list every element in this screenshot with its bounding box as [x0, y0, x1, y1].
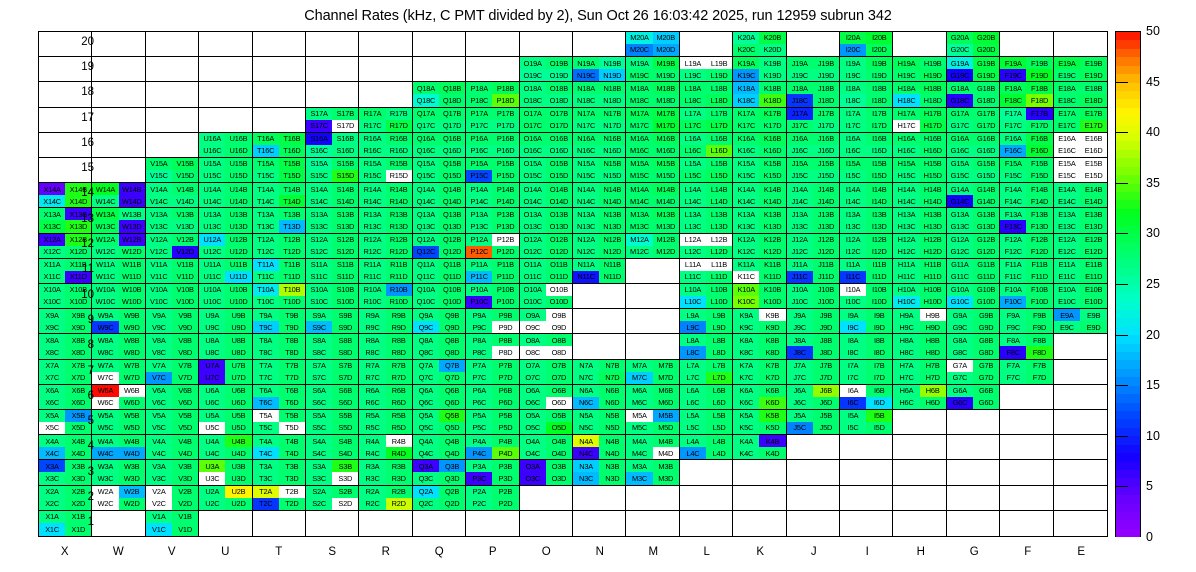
channel-P10D: P10D	[492, 296, 518, 308]
channel-P8D: P8D	[492, 346, 518, 358]
heatmap-cell-T1	[253, 511, 306, 536]
channel-Q2B: Q2B	[439, 486, 465, 498]
heatmap-cell-E16: E16AE16BE16CE16D	[1054, 133, 1107, 158]
x-axis-tick-T: T	[259, 546, 299, 558]
channel-E18A: E18A	[1054, 82, 1081, 94]
channel-K20B: K20B	[759, 32, 785, 44]
channel-N19C: N19C	[573, 69, 599, 81]
channel-K16B: K16B	[759, 133, 785, 145]
channel-V8A: V8A	[146, 334, 172, 346]
heatmap-cell-F6	[1000, 385, 1053, 410]
channel-S13A: S13A	[306, 208, 332, 220]
channel-N16A: N16A	[573, 133, 599, 145]
channel-L4A: L4A	[680, 435, 706, 447]
channel-G17C: G17C	[947, 120, 973, 132]
channel-S13D: S13D	[332, 220, 358, 232]
channel-T11B: T11B	[279, 259, 305, 271]
heatmap-cell-L19: L19AL19BL19CL19D	[680, 57, 733, 82]
heatmap-cell-G17: G17AG17BG17CG17D	[947, 108, 1000, 133]
channel-I8B: I8B	[866, 334, 892, 346]
channel-V11D: V11D	[172, 271, 198, 283]
channel-F8A: F8A	[1000, 334, 1026, 346]
channel-E9C: E9C	[1054, 321, 1081, 333]
channel-F16B: F16B	[1026, 133, 1052, 145]
heatmap-cell-H2	[893, 486, 946, 511]
channel-H6B: H6B	[920, 385, 946, 397]
channel-V4A: V4A	[146, 435, 172, 447]
heatmap-cell-T14: T14AT14BT14CT14D	[253, 183, 306, 208]
channel-M16C: M16C	[626, 145, 652, 157]
channel-Q8C: Q8C	[413, 346, 439, 358]
channel-H13A: H13A	[893, 208, 919, 220]
channel-S2B: S2B	[332, 486, 358, 498]
channel-P2D: P2D	[492, 498, 518, 510]
channel-Q14C: Q14C	[413, 195, 439, 207]
channel-O6C: O6C	[520, 397, 546, 409]
heatmap-cell-W16	[92, 133, 145, 158]
heatmap-cell-P12: P12AP12BP12CP12D	[466, 234, 519, 259]
channel-S10C: S10C	[306, 296, 332, 308]
channel-L11D: L11D	[706, 271, 732, 283]
channel-K9D: K9D	[759, 321, 785, 333]
channel-X8C: X8C	[39, 346, 65, 358]
channel-R8B: R8B	[386, 334, 412, 346]
channel-R3B: R3B	[386, 460, 412, 472]
heatmap-cell-E11: E11AE11BE11CE11D	[1054, 259, 1107, 284]
heatmap-cell-H17: H17AH17BH17CH17D	[893, 108, 946, 133]
heatmap-cell-S7: S7AS7BS7CS7D	[306, 360, 359, 385]
heatmap-cell-L20	[680, 32, 733, 57]
channel-O9D: O9D	[546, 321, 572, 333]
channel-U10A: U10A	[199, 284, 225, 296]
channel-N13A: N13A	[573, 208, 599, 220]
channel-J5D: J5D	[813, 422, 839, 434]
channel-F11C: F11C	[1000, 271, 1026, 283]
channel-G19A: G19A	[947, 57, 973, 69]
heatmap-cell-V18	[146, 82, 199, 107]
channel-U5D: U5D	[225, 422, 251, 434]
channel-I8D: I8D	[866, 346, 892, 358]
heatmap-cell-K17: K17AK17BK17CK17D	[733, 108, 786, 133]
heatmap-cell-J6: J6AJ6BJ6CJ6D	[787, 385, 840, 410]
channel-G11A: G11A	[947, 259, 973, 271]
heatmap-cell-R16: R16AR16BR16CR16D	[359, 133, 412, 158]
channel-G19C: G19C	[947, 69, 973, 81]
colorbar-label-45: 45	[1146, 75, 1160, 89]
channel-V5D: V5D	[172, 422, 198, 434]
heatmap-cell-E10: E10AE10BE10CE10D	[1054, 284, 1107, 309]
channel-S12A: S12A	[306, 234, 332, 246]
channel-L13B: L13B	[706, 208, 732, 220]
heatmap-cell-F1	[1000, 511, 1053, 536]
y-axis-tick-19: 19	[68, 61, 94, 73]
channel-W9D: W9D	[119, 321, 145, 333]
channel-I15C: I15C	[840, 170, 866, 182]
channel-N7A: N7A	[573, 360, 599, 372]
channel-F8C: F8C	[1000, 346, 1026, 358]
channel-H6D: H6D	[920, 397, 946, 409]
heatmap-cell-H5	[893, 410, 946, 435]
heatmap-cell-O9: O9AO9BO9CO9D	[520, 309, 573, 334]
channel-O16D: O16D	[546, 145, 572, 157]
heatmap-cell-F18: F18AF18BF18CF18D	[1000, 82, 1053, 107]
channel-I17C: I17C	[840, 120, 866, 132]
channel-P6C: P6C	[466, 397, 492, 409]
heatmap-cell-J12: J12AJ12BJ12CJ12D	[787, 234, 840, 259]
heatmap-cell-F8: F8AF8BF8CF8D	[1000, 334, 1053, 359]
heatmap-cell-K9: K9AK9BK9CK9D	[733, 309, 786, 334]
heatmap-cell-P7: P7AP7BP7CP7D	[466, 360, 519, 385]
channel-W10A: W10A	[92, 284, 118, 296]
channel-P17A: P17A	[466, 108, 492, 120]
channel-V9A: V9A	[146, 309, 172, 321]
channel-R11D: R11D	[386, 271, 412, 283]
heatmap-cell-R15: R15AR15BR15CR15D	[359, 158, 412, 183]
channel-K13D: K13D	[759, 220, 785, 232]
channel-K14A: K14A	[733, 183, 759, 195]
colorbar-segment	[1116, 520, 1140, 528]
heatmap-cell-U6: U6AU6BU6CU6D	[199, 385, 252, 410]
channel-S7B: S7B	[332, 360, 358, 372]
x-axis-tick-S: S	[312, 546, 352, 558]
channel-Q15D: Q15D	[439, 170, 465, 182]
channel-F16C: F16C	[1000, 145, 1026, 157]
x-axis-tick-H: H	[901, 546, 941, 558]
channel-S5A: S5A	[306, 410, 332, 422]
channel-K4D: K4D	[759, 447, 785, 459]
channel-E17A: E17A	[1054, 108, 1081, 120]
channel-U12D: U12D	[225, 246, 251, 258]
channel-Q7B: Q7B	[439, 360, 465, 372]
heatmap-cell-U17	[199, 108, 252, 133]
channel-X7A: X7A	[39, 360, 65, 372]
channel-G10D: G10D	[973, 296, 999, 308]
channel-G18A: G18A	[947, 82, 973, 94]
channel-F7D: F7D	[1026, 372, 1052, 384]
channel-N3D: N3D	[599, 472, 625, 484]
channel-K14C: K14C	[733, 195, 759, 207]
channel-T7D: T7D	[279, 372, 305, 384]
heatmap-cell-O6: O6AO6BO6CO6D	[520, 385, 573, 410]
channel-G16C: G16C	[947, 145, 973, 157]
colorbar-segment	[1116, 167, 1140, 175]
channel-S2C: S2C	[306, 498, 332, 510]
heatmap-cell-E17: E17AE17BE17CE17D	[1054, 108, 1107, 133]
y-axis-tick-17: 17	[68, 112, 94, 124]
x-axis-tick-W: W	[98, 546, 138, 558]
channel-G20D: G20D	[973, 44, 999, 56]
channel-J12A: J12A	[787, 234, 813, 246]
channel-I14A: I14A	[840, 183, 866, 195]
channel-Q2C: Q2C	[413, 498, 439, 510]
channel-O7D: O7D	[546, 372, 572, 384]
channel-I10C: I10C	[840, 296, 866, 308]
heatmap-cell-V3: V3AV3BV3CV3D	[146, 460, 199, 485]
channel-G11C: G11C	[947, 271, 973, 283]
channel-E13B: E13B	[1080, 208, 1107, 220]
channel-P16D: P16D	[492, 145, 518, 157]
channel-E12D: E12D	[1080, 246, 1107, 258]
channel-G13A: G13A	[947, 208, 973, 220]
heatmap-cell-K20: K20AK20BK20CK20D	[733, 32, 786, 57]
y-axis-tick-4: 4	[68, 440, 94, 452]
heatmap-cell-W7: W7AW7BW7CW7D	[92, 360, 145, 385]
channel-U13A: U13A	[199, 208, 225, 220]
channel-X8A: X8A	[39, 334, 65, 346]
channel-S14C: S14C	[306, 195, 332, 207]
heatmap-cell-S4: S4AS4BS4CS4D	[306, 435, 359, 460]
channel-S13C: S13C	[306, 220, 332, 232]
channel-Q17C: Q17C	[413, 120, 439, 132]
heatmap-cell-V4: V4AV4BV4CV4D	[146, 435, 199, 460]
heatmap-cell-N19: N19AN19BN19CN19D	[573, 57, 626, 82]
channel-H10A: H10A	[893, 284, 919, 296]
channel-S8A: S8A	[306, 334, 332, 346]
channel-M20A: M20A	[626, 32, 652, 44]
heatmap-cell-U5: U5AU5BU5CU5D	[199, 410, 252, 435]
channel-L8C: L8C	[680, 346, 706, 358]
colorbar-tick	[1115, 82, 1128, 83]
channel-F7B: F7B	[1026, 360, 1052, 372]
channel-O4D: O4D	[546, 447, 572, 459]
channel-R9A: R9A	[359, 309, 385, 321]
channel-J8C: J8C	[787, 346, 813, 358]
heatmap-cell-W18	[92, 82, 145, 107]
heatmap-cell-F16: F16AF16BF16CF16D	[1000, 133, 1053, 158]
channel-I12B: I12B	[866, 234, 892, 246]
channel-X7C: X7C	[39, 372, 65, 384]
channel-I9D: I9D	[866, 321, 892, 333]
channel-U8D: U8D	[225, 346, 251, 358]
heatmap-cell-O18: O18AO18BO18CO18D	[520, 82, 573, 107]
heatmap-cell-S18	[306, 82, 359, 107]
channel-K11B: K11B	[759, 259, 785, 271]
channel-R8A: R8A	[359, 334, 385, 346]
x-axis-tick-L: L	[687, 546, 727, 558]
heatmap-cell-S3: S3AS3BS3CS3D	[306, 460, 359, 485]
channel-V6C: V6C	[146, 397, 172, 409]
channel-Q18C: Q18C	[413, 94, 439, 106]
channel-X9A: X9A	[39, 309, 65, 321]
channel-R7C: R7C	[359, 372, 385, 384]
channel-Q6A: Q6A	[413, 385, 439, 397]
channel-E15D: E15D	[1080, 170, 1107, 182]
channel-R10B: R10B	[386, 284, 412, 296]
channel-S7D: S7D	[332, 372, 358, 384]
heatmap-cell-H18: H18AH18BH18CH18D	[893, 82, 946, 107]
channel-P13A: P13A	[466, 208, 492, 220]
channel-N4C: N4C	[573, 447, 599, 459]
channel-W14D: W14D	[119, 195, 145, 207]
channel-O17C: O17C	[520, 120, 546, 132]
channel-I15B: I15B	[866, 158, 892, 170]
heatmap-cell-I12: I12AI12BI12CI12D	[840, 234, 893, 259]
channel-K9A: K9A	[733, 309, 759, 321]
channel-F10A: F10A	[1000, 284, 1026, 296]
colorbar-segment	[1116, 158, 1140, 166]
channel-R2B: R2B	[386, 486, 412, 498]
channel-M6A: M6A	[626, 385, 652, 397]
channel-S8B: S8B	[332, 334, 358, 346]
channel-E10D: E10D	[1080, 296, 1107, 308]
channel-R12A: R12A	[359, 234, 385, 246]
channel-F10B: F10B	[1026, 284, 1052, 296]
channel-P8A: P8A	[466, 334, 492, 346]
channel-N5C: N5C	[573, 422, 599, 434]
channel-V11B: V11B	[172, 259, 198, 271]
heatmap-cell-N6: N6AN6BN6CN6D	[573, 385, 626, 410]
channel-M19D: M19D	[653, 69, 679, 81]
channel-V8D: V8D	[172, 346, 198, 358]
page-title: Channel Rates (kHz, C PMT divided by 2),…	[0, 8, 1196, 24]
heatmap-cell-W4: W4AW4BW4CW4D	[92, 435, 145, 460]
channel-W14C: W14C	[92, 195, 118, 207]
channel-O12A: O12A	[520, 234, 546, 246]
channel-V4C: V4C	[146, 447, 172, 459]
channel-F19D: F19D	[1026, 69, 1052, 81]
channel-V12C: V12C	[146, 246, 172, 258]
channel-S5D: S5D	[332, 422, 358, 434]
y-axis-tick-15: 15	[68, 162, 94, 174]
heatmap-cell-M20: M20AM20BM20CM20D	[626, 32, 679, 57]
channel-L17D: L17D	[706, 120, 732, 132]
channel-K15A: K15A	[733, 158, 759, 170]
channel-P14B: P14B	[492, 183, 518, 195]
heatmap-cell-U15: U15AU15BU15CU15D	[199, 158, 252, 183]
channel-R13D: R13D	[386, 220, 412, 232]
heatmap-cell-G6: G6AG6BG6CG6D	[947, 385, 1000, 410]
channel-J7C: J7C	[787, 372, 813, 384]
channel-L6D: L6D	[706, 397, 732, 409]
channel-P8C: P8C	[466, 346, 492, 358]
channel-W12D: W12D	[119, 246, 145, 258]
channel-R4B: R4B	[386, 435, 412, 447]
channel-J17C: J17C	[787, 120, 813, 132]
heatmap-cell-T8: T8AT8BT8CT8D	[253, 334, 306, 359]
colorbar-label-10: 10	[1146, 429, 1160, 443]
channel-S8D: S8D	[332, 346, 358, 358]
channel-G6A: G6A	[947, 385, 973, 397]
channel-M3D: M3D	[653, 472, 679, 484]
channel-N5A: N5A	[573, 410, 599, 422]
y-axis-tick-1: 1	[68, 516, 94, 528]
channel-G8D: G8D	[973, 346, 999, 358]
channel-M15C: M15C	[626, 170, 652, 182]
heatmap-cell-P10: P10AP10BP10CP10D	[466, 284, 519, 309]
channel-I17D: I17D	[866, 120, 892, 132]
channel-W3D: W3D	[119, 472, 145, 484]
channel-H11D: H11D	[920, 271, 946, 283]
heatmap-cell-O15: O15AO15BO15CO15D	[520, 158, 573, 183]
channel-E16D: E16D	[1080, 145, 1107, 157]
channel-T6D: T6D	[279, 397, 305, 409]
colorbar-segment	[1116, 116, 1140, 124]
heatmap-cell-F13: F13AF13BF13CF13D	[1000, 208, 1053, 233]
heatmap-cell-T9: T9AT9BT9CT9D	[253, 309, 306, 334]
channel-J19B: J19B	[813, 57, 839, 69]
channel-Q12B: Q12B	[439, 234, 465, 246]
channel-P11C: P11C	[466, 271, 492, 283]
channel-R10C: R10C	[359, 296, 385, 308]
channel-N3B: N3B	[599, 460, 625, 472]
colorbar-segment	[1116, 99, 1140, 107]
channel-E9A: E9A	[1054, 309, 1081, 321]
channel-H13D: H13D	[920, 220, 946, 232]
channel-M12C: M12C	[626, 246, 652, 258]
channel-L7A: L7A	[680, 360, 706, 372]
channel-V3C: V3C	[146, 472, 172, 484]
channel-Q2A: Q2A	[413, 486, 439, 498]
channel-R7D: R7D	[386, 372, 412, 384]
channel-O19C: O19C	[520, 69, 546, 81]
channel-P3B: P3B	[492, 460, 518, 472]
channel-M19A: M19A	[626, 57, 652, 69]
channel-N12A: N12A	[573, 234, 599, 246]
channel-P18B: P18B	[492, 82, 518, 94]
channel-Q3C: Q3C	[413, 472, 439, 484]
channel-Q15C: Q15C	[413, 170, 439, 182]
channel-Q12D: Q12D	[439, 246, 465, 258]
heatmap-cell-S16: S16AS16BS16CS16D	[306, 133, 359, 158]
heatmap-cell-M2	[626, 486, 679, 511]
heatmap-cell-R5: R5AR5BR5CR5D	[359, 410, 412, 435]
channel-J10B: J10B	[813, 284, 839, 296]
channel-F17B: F17B	[1026, 108, 1052, 120]
channel-X4C: X4C	[39, 447, 65, 459]
channel-I6B: I6B	[866, 385, 892, 397]
heatmap-cell-L7: L7AL7BL7CL7D	[680, 360, 733, 385]
channel-V10A: V10A	[146, 284, 172, 296]
channel-U9A: U9A	[199, 309, 225, 321]
x-axis-tick-E: E	[1061, 546, 1101, 558]
heatmap-cell-H3	[893, 460, 946, 485]
channel-U9D: U9D	[225, 321, 251, 333]
channel-I18D: I18D	[866, 94, 892, 106]
channel-V9D: V9D	[172, 321, 198, 333]
heatmap-cell-E5	[1054, 410, 1107, 435]
heatmap-cell-F12: F12AF12BF12CF12D	[1000, 234, 1053, 259]
channel-W13D: W13D	[119, 220, 145, 232]
channel-Q17D: Q17D	[439, 120, 465, 132]
channel-R15D: R15D	[386, 170, 412, 182]
channel-K4B: K4B	[759, 435, 785, 447]
x-axis-tick-O: O	[526, 546, 566, 558]
channel-U11C: U11C	[199, 271, 225, 283]
channel-I14D: I14D	[866, 195, 892, 207]
channel-X5C: X5C	[39, 422, 65, 434]
heatmap-cell-M14: M14AM14BM14CM14D	[626, 183, 679, 208]
heatmap-cell-N2	[573, 486, 626, 511]
channel-H19B: H19B	[920, 57, 946, 69]
heatmap-cell-H19: H19AH19BH19CH19D	[893, 57, 946, 82]
heatmap-cell-O1	[520, 511, 573, 536]
channel-T3A: T3A	[253, 460, 279, 472]
heatmap-cell-J8: J8AJ8BJ8CJ8D	[787, 334, 840, 359]
channel-P10A: P10A	[466, 284, 492, 296]
channel-M15D: M15D	[653, 170, 679, 182]
heatmap-cell-J7: J7AJ7BJ7CJ7D	[787, 360, 840, 385]
channel-Q13A: Q13A	[413, 208, 439, 220]
channel-J15A: J15A	[787, 158, 813, 170]
channel-L18C: L18C	[680, 94, 706, 106]
channel-I11A: I11A	[840, 259, 866, 271]
heatmap-cell-P14: P14AP14BP14CP14D	[466, 183, 519, 208]
heatmap-cell-T4: T4AT4BT4CT4D	[253, 435, 306, 460]
channel-L16A: L16A	[680, 133, 706, 145]
channel-L12D: L12D	[706, 246, 732, 258]
heatmap-cell-V9: V9AV9BV9CV9D	[146, 309, 199, 334]
channel-T16B: T16B	[279, 133, 305, 145]
